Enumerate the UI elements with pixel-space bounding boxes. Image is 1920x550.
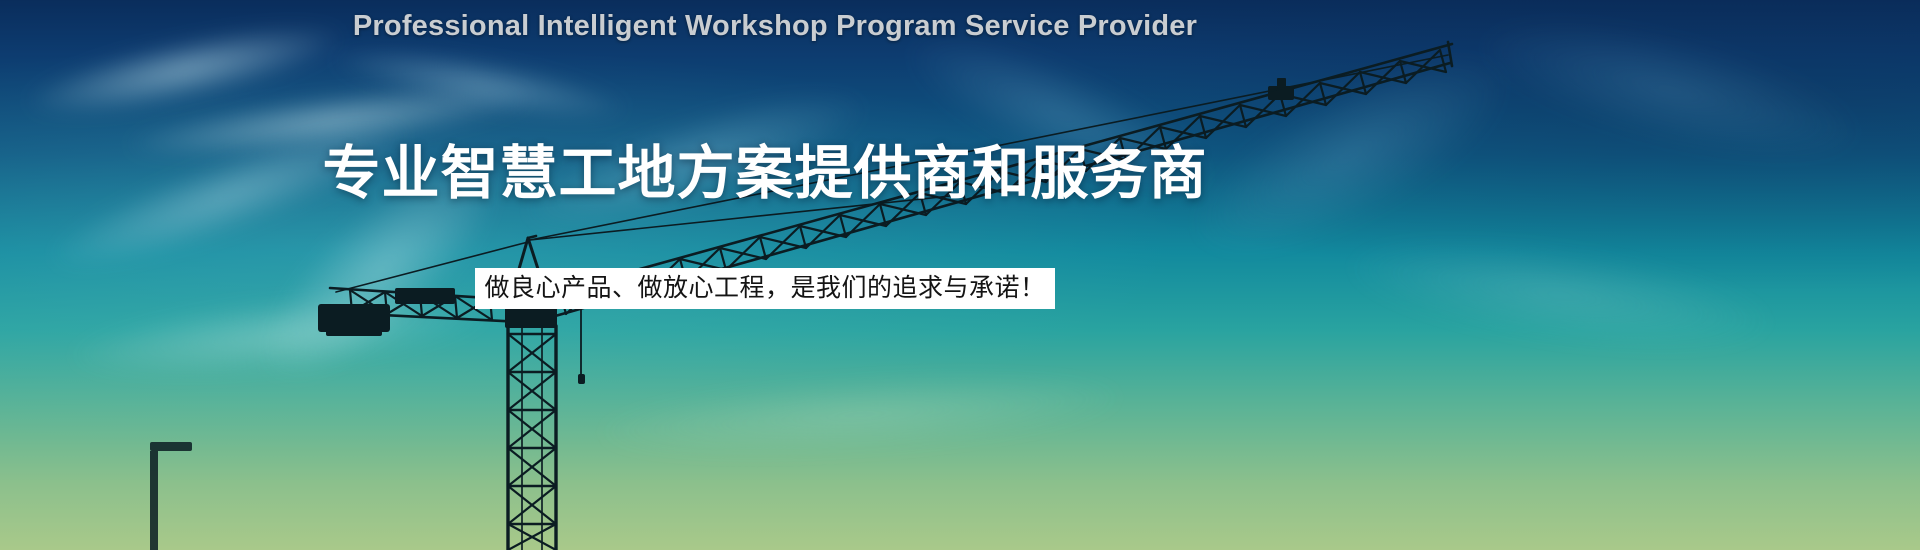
- banner-chinese-title: 专业智慧工地方案提供商和服务商: [0, 126, 1530, 210]
- banner-subtitle: 做良心产品、做放心工程，是我们的追求与承诺！: [475, 268, 1054, 309]
- banner-english-title: Professional Intelligent Workshop Progra…: [0, 10, 1550, 43]
- banner-subtitle-container: 做良心产品、做放心工程，是我们的追求与承诺！: [0, 268, 1530, 309]
- hero-banner: Professional Intelligent Workshop Progra…: [0, 0, 1920, 550]
